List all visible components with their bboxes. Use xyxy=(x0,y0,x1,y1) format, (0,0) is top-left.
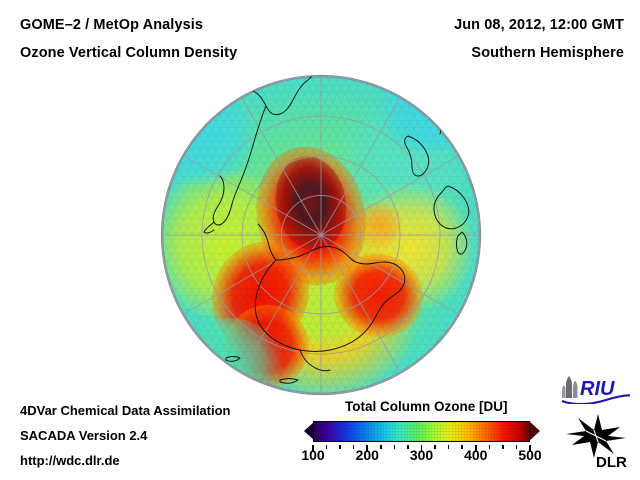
footer-line-1: 4DVar Chemical Data Assimilation xyxy=(20,403,231,418)
globe-disc xyxy=(162,76,480,394)
footer-line-2: SACADA Version 2.4 xyxy=(20,428,147,443)
colorbar-tick-label: 500 xyxy=(518,447,541,463)
riu-logo: RIU xyxy=(560,374,632,404)
colorbar xyxy=(305,418,537,446)
riu-towers-icon xyxy=(562,376,577,398)
colorbar-title: Total Column Ozone [DU] xyxy=(345,399,507,414)
colorbar-gradient xyxy=(314,422,529,441)
colorbar-tick-label: 200 xyxy=(356,447,379,463)
colorbar-overflow-arrow xyxy=(529,421,540,441)
dlr-logo: DLR xyxy=(562,412,632,470)
colorbar-tick-label: 300 xyxy=(410,447,433,463)
colorbar-tick-label: 400 xyxy=(464,447,487,463)
header-hemisphere: Southern Hemisphere xyxy=(471,45,624,61)
colorbar-body xyxy=(313,421,530,442)
header-timestamp: Jun 08, 2012, 12:00 GMT xyxy=(454,17,624,33)
ozone-map xyxy=(162,76,480,394)
colorbar-tick-labels: 100200300400500 xyxy=(0,447,640,467)
dlr-logo-text: DLR xyxy=(596,454,627,470)
globe-limb-shading xyxy=(162,76,480,394)
colorbar-tick-label: 100 xyxy=(301,447,324,463)
header-subtitle: Ozone Vertical Column Density xyxy=(20,45,237,61)
riu-logo-text: RIU xyxy=(580,378,615,400)
header-title: GOME–2 / MetOp Analysis xyxy=(20,17,203,33)
